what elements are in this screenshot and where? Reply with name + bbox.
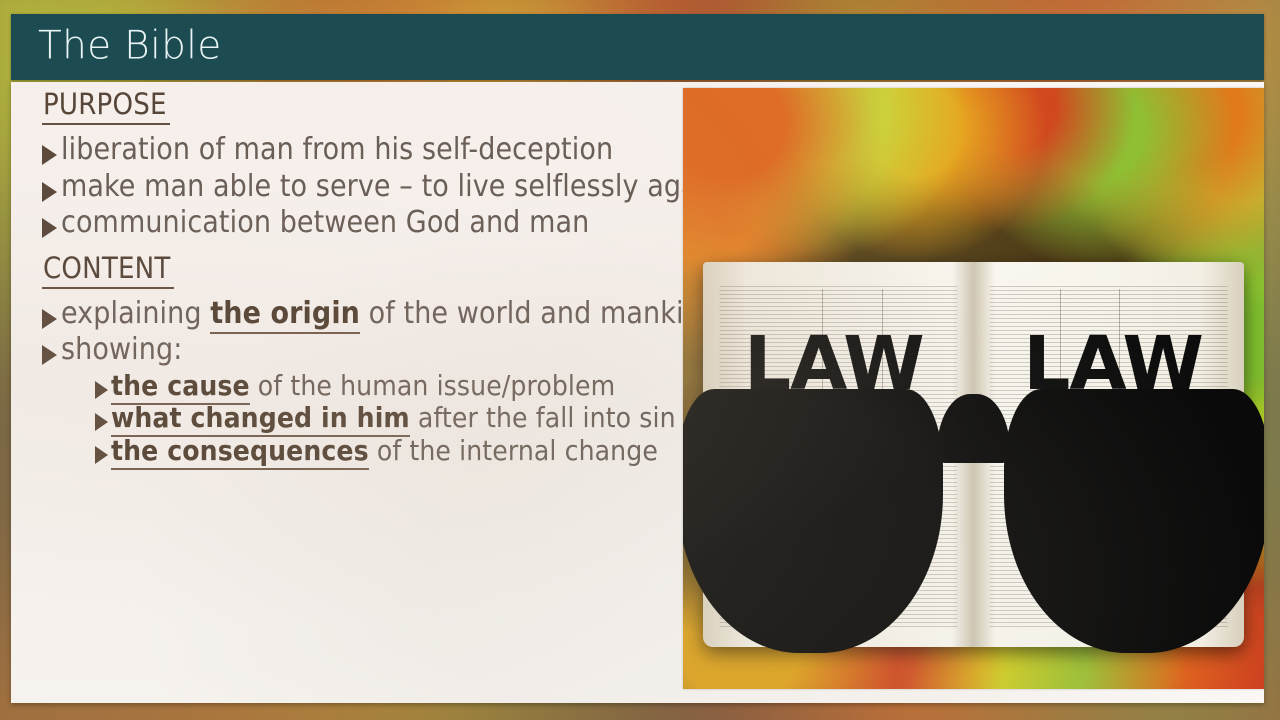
triangle-bullet-icon bbox=[95, 381, 108, 399]
bullet-text: liberation of man from his self-deceptio… bbox=[61, 133, 613, 167]
eyeglasses-icon bbox=[683, 389, 1264, 653]
title-bar: The Bible bbox=[11, 14, 1264, 80]
triangle-bullet-icon bbox=[42, 182, 57, 202]
bullet-item: communication between God and man bbox=[42, 206, 682, 240]
triangle-bullet-icon bbox=[42, 218, 57, 238]
section-heading-purpose-wrap: PURPOSE bbox=[42, 90, 682, 131]
content-panel: PURPOSE liberation of man from his self-… bbox=[11, 82, 1264, 703]
bullet-text: communication between God and man bbox=[61, 206, 589, 240]
sub-bullet-text: what changed in him after the fall into … bbox=[111, 402, 676, 433]
bullet-item: make man able to serve – to live selfles… bbox=[42, 170, 682, 204]
sub-bullet-emphasis: the cause bbox=[111, 369, 250, 405]
section-heading-purpose: PURPOSE bbox=[42, 90, 170, 125]
lens-left bbox=[683, 389, 943, 653]
section-heading-content-wrap: CONTENT bbox=[42, 254, 682, 295]
sub-bullet-item: the cause of the human issue/problem bbox=[42, 370, 682, 401]
slide: The Bible PURPOSE liberation of man from… bbox=[0, 0, 1280, 720]
bullet-item: liberation of man from his self-deceptio… bbox=[42, 133, 682, 167]
bullet-text: make man able to serve – to live selfles… bbox=[61, 170, 723, 204]
section-heading-content: CONTENT bbox=[42, 254, 174, 289]
sub-bullet-emphasis: what changed in him bbox=[111, 401, 410, 437]
page-title: The Bible bbox=[38, 24, 222, 69]
bullet-text: showing: bbox=[61, 333, 182, 367]
lens-right bbox=[1004, 389, 1264, 653]
glasses-bridge bbox=[937, 394, 1010, 463]
triangle-bullet-icon bbox=[95, 446, 108, 464]
sub-bullet-emphasis: the consequences bbox=[111, 434, 369, 470]
sub-bullet-text: the consequences of the internal change bbox=[111, 435, 658, 466]
bullet-text: explaining the origin of the world and m… bbox=[61, 297, 718, 331]
bible-glasses-image: LAW LAW bbox=[683, 88, 1264, 689]
sub-bullet-text: the cause of the human issue/problem bbox=[111, 370, 615, 401]
text-column: PURPOSE liberation of man from his self-… bbox=[42, 90, 682, 467]
law-text-left: LAW bbox=[744, 327, 924, 401]
sub-bullet-item: what changed in him after the fall into … bbox=[42, 402, 682, 433]
triangle-bullet-icon bbox=[42, 345, 57, 365]
bullet-item: showing: bbox=[42, 333, 682, 367]
bullet-item: explaining the origin of the world and m… bbox=[42, 297, 682, 331]
bullet-emphasis: the origin bbox=[210, 296, 360, 334]
sub-bullet-item: the consequences of the internal change bbox=[42, 435, 682, 466]
triangle-bullet-icon bbox=[42, 309, 57, 329]
triangle-bullet-icon bbox=[42, 145, 57, 165]
triangle-bullet-icon bbox=[95, 413, 108, 431]
law-text-right: LAW bbox=[1023, 327, 1203, 401]
